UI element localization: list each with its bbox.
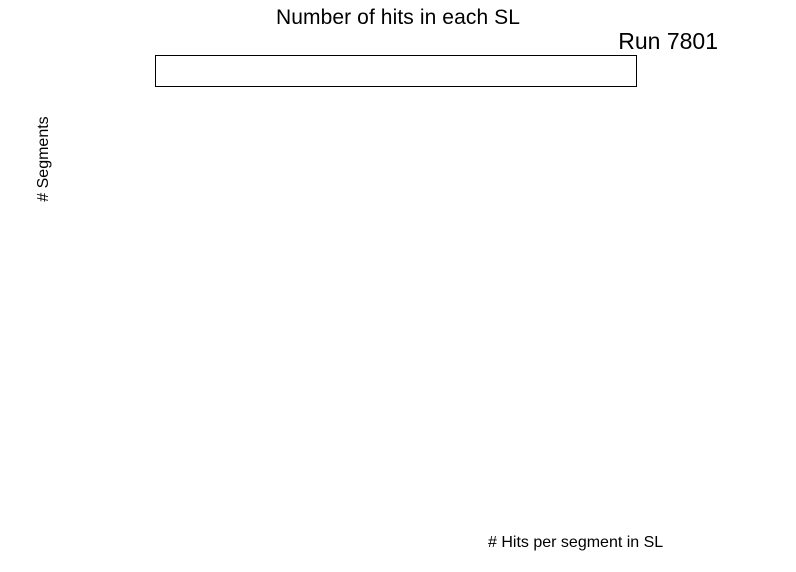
legend[interactable] [155,55,637,87]
root-canvas: Number of hits in each SL Run 7801 # Seg… [0,0,796,572]
